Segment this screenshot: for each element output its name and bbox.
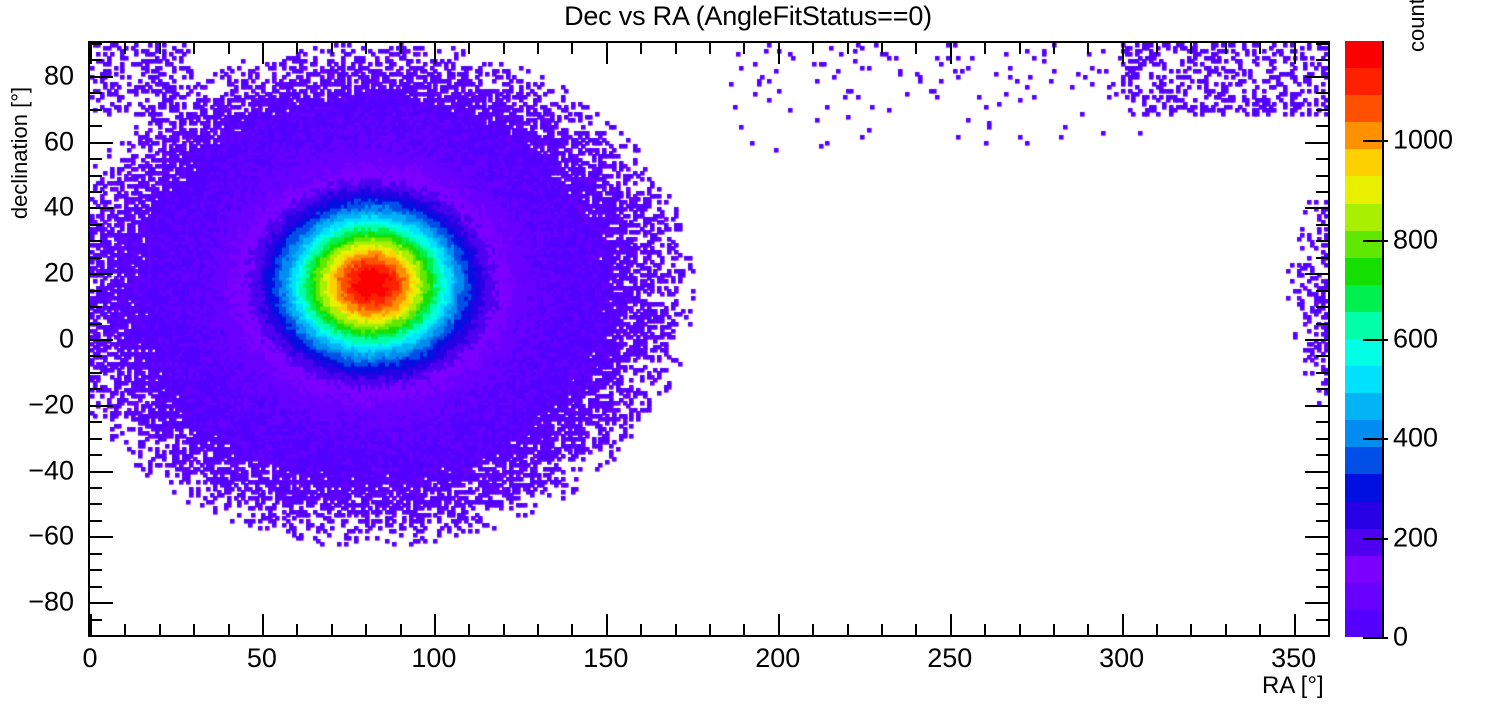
x-minor-tick [296,624,298,635]
y-minor-tick [90,553,102,555]
x-major-tick-top [90,43,92,64]
x-tick-label: 150 [583,643,628,674]
y-minor-tick [90,355,102,357]
y-tick-label: 0 [0,324,74,355]
x-minor-tick [365,624,367,635]
y-major-tick [90,207,113,209]
colorbar-band [1345,312,1382,339]
x-minor-tick [1225,624,1227,635]
x-minor-tick [503,624,505,635]
x-minor-tick-top [984,43,986,54]
x-major-tick [1122,614,1124,635]
x-major-tick-top [1122,43,1124,64]
y-minor-tick-right [1316,503,1328,505]
x-major-tick-top [778,43,780,64]
y-minor-tick-right [1316,175,1328,177]
y-minor-tick-right [1316,355,1328,357]
y-minor-tick-right [1316,191,1328,193]
colorbar-band [1345,610,1382,637]
x-minor-tick [193,624,195,635]
colorbar-tick [1363,339,1388,341]
x-minor-tick-top [400,43,402,54]
colorbar-band [1345,447,1382,474]
y-major-tick [90,405,113,407]
x-minor-tick-top [537,43,539,54]
y-minor-tick [90,421,102,423]
y-minor-tick-right [1316,388,1328,390]
y-minor-tick [90,240,102,242]
y-tick-label: −60 [0,521,74,552]
y-minor-tick [90,175,102,177]
x-minor-tick [1156,624,1158,635]
y-tick-label: −20 [0,389,74,420]
y-major-tick [90,76,113,78]
x-minor-tick-top [228,43,230,54]
x-major-tick [1294,614,1296,635]
colorbar-tick-label: 200 [1393,523,1438,554]
colorbar-tick-label: 800 [1393,225,1438,256]
colorbar-tick [1363,637,1388,639]
x-major-tick [90,614,92,635]
x-minor-tick [1087,624,1089,635]
colorbar-band [1345,366,1382,393]
x-minor-tick [228,624,230,635]
y-minor-tick-right [1316,125,1328,127]
x-major-tick [950,614,952,635]
x-minor-tick-top [1225,43,1227,54]
y-minor-tick [90,388,102,390]
x-tick-label: 100 [411,643,456,674]
colorbar-band [1345,204,1382,231]
x-minor-tick-top [124,43,126,54]
y-major-tick-right [1305,142,1328,144]
y-minor-tick [90,306,102,308]
x-minor-tick [812,624,814,635]
y-axis-title: declination [°] [7,43,33,263]
x-tick-label: 50 [247,643,277,674]
x-minor-tick [915,624,917,635]
x-minor-tick-top [743,43,745,54]
y-minor-tick [90,569,102,571]
y-minor-tick-right [1316,438,1328,440]
x-minor-tick-top [193,43,195,54]
y-minor-tick [90,454,102,456]
y-minor-tick [90,290,102,292]
y-major-tick-right [1305,602,1328,604]
x-minor-tick-top [709,43,711,54]
y-minor-tick [90,586,102,588]
x-minor-tick-top [571,43,573,54]
y-major-tick [90,339,113,341]
y-minor-tick [90,503,102,505]
colorbar-band [1345,474,1382,501]
page-title: Dec vs RA (AngleFitStatus==0) [0,1,1496,32]
x-minor-tick-top [1328,43,1330,54]
colorbar-band [1345,41,1382,68]
colorbar-band [1345,176,1382,203]
y-minor-tick [90,191,102,193]
colorbar-band [1345,420,1382,447]
x-minor-tick [537,624,539,635]
x-minor-tick [1259,624,1261,635]
y-minor-tick-right [1316,323,1328,325]
y-minor-tick-right [1316,586,1328,588]
root-canvas: Dec vs RA (AngleFitStatus==0) −80−60−40−… [0,0,1496,722]
x-major-tick-top [606,43,608,64]
x-minor-tick-top [159,43,161,54]
x-minor-tick [571,624,573,635]
x-minor-tick [675,624,677,635]
x-minor-tick-top [1087,43,1089,54]
colorbar-tick [1363,240,1388,242]
x-minor-tick-top [881,43,883,54]
y-major-tick [90,471,113,473]
y-minor-tick-right [1316,240,1328,242]
y-minor-tick-right [1316,306,1328,308]
x-minor-tick-top [1190,43,1192,54]
x-minor-tick-top [915,43,917,54]
y-major-tick-right [1305,76,1328,78]
x-minor-tick [1190,624,1192,635]
colorbar: 02004006008001000 [1345,41,1382,637]
y-minor-tick-right [1316,619,1328,621]
x-minor-tick [468,624,470,635]
y-minor-tick-right [1316,635,1328,637]
y-minor-tick [90,323,102,325]
x-minor-tick-top [1053,43,1055,54]
y-minor-tick [90,92,102,94]
y-tick-label: −40 [0,455,74,486]
x-tick-label: 350 [1271,643,1316,674]
colorbar-tick-label: 1000 [1393,125,1453,156]
x-minor-tick [159,624,161,635]
y-minor-tick [90,635,102,637]
colorbar-band [1345,95,1382,122]
colorbar-tick-label: 400 [1393,423,1438,454]
x-minor-tick [331,624,333,635]
colorbar-band [1345,149,1382,176]
x-minor-tick [709,624,711,635]
y-minor-tick [90,158,102,160]
y-minor-tick-right [1316,158,1328,160]
x-tick-label: 300 [1099,643,1144,674]
colorbar-tick [1363,140,1388,142]
colorbar-tick [1363,538,1388,540]
x-minor-tick-top [812,43,814,54]
y-minor-tick-right [1316,290,1328,292]
x-major-tick-top [1294,43,1296,64]
x-minor-tick-top [1259,43,1261,54]
x-minor-tick [743,624,745,635]
x-axis-title: RA [°] [1262,672,1324,700]
y-tick-label: −80 [0,587,74,618]
x-tick-label: 250 [927,643,972,674]
y-minor-tick-right [1316,109,1328,111]
colorbar-tick [1363,438,1388,440]
y-minor-tick-right [1316,553,1328,555]
x-minor-tick [400,624,402,635]
y-major-tick-right [1305,536,1328,538]
colorbar-tick-label: 600 [1393,324,1438,355]
colorbar-title: count [1404,0,1430,52]
x-minor-tick-top [1019,43,1021,54]
y-minor-tick-right [1316,454,1328,456]
x-minor-tick [1328,624,1330,635]
y-major-tick [90,142,113,144]
y-minor-tick [90,487,102,489]
colorbar-band [1345,258,1382,285]
x-minor-tick [984,624,986,635]
x-tick-label: 0 [82,643,97,674]
colorbar-band [1345,529,1382,556]
y-minor-tick [90,109,102,111]
x-minor-tick-top [1156,43,1158,54]
y-minor-tick-right [1316,224,1328,226]
y-minor-tick [90,125,102,127]
x-minor-tick-top [847,43,849,54]
y-minor-tick [90,438,102,440]
colorbar-band [1345,583,1382,610]
y-major-tick-right [1305,339,1328,341]
x-tick-label: 200 [755,643,800,674]
x-minor-tick-top [675,43,677,54]
y-minor-tick [90,520,102,522]
x-minor-tick [640,624,642,635]
x-major-tick-top [434,43,436,64]
x-minor-tick-top [365,43,367,54]
colorbar-band [1345,339,1382,366]
colorbar-band [1345,68,1382,95]
x-minor-tick [1019,624,1021,635]
x-major-tick [606,614,608,635]
x-major-tick [778,614,780,635]
y-minor-tick-right [1316,569,1328,571]
y-minor-tick-right [1316,487,1328,489]
colorbar-band [1345,393,1382,420]
x-major-tick [262,614,264,635]
y-major-tick-right [1305,273,1328,275]
y-major-tick-right [1305,471,1328,473]
x-minor-tick-top [468,43,470,54]
colorbar-band [1345,231,1382,258]
x-major-tick-top [262,43,264,64]
y-minor-tick-right [1316,43,1328,45]
x-major-tick [434,614,436,635]
x-minor-tick-top [331,43,333,54]
y-major-tick-right [1305,405,1328,407]
colorbar-band [1345,285,1382,312]
x-minor-tick [1053,624,1055,635]
y-major-tick-right [1305,207,1328,209]
y-minor-tick [90,224,102,226]
y-minor-tick [90,372,102,374]
y-minor-tick [90,257,102,259]
colorbar-band [1345,502,1382,529]
y-major-tick [90,273,113,275]
y-major-tick [90,602,113,604]
y-minor-tick-right [1316,372,1328,374]
histogram-2d-heatmap [90,43,1328,635]
y-minor-tick-right [1316,257,1328,259]
colorbar-band [1345,122,1382,149]
x-minor-tick [881,624,883,635]
y-minor-tick-right [1316,421,1328,423]
x-minor-tick [847,624,849,635]
y-minor-tick-right [1316,92,1328,94]
x-minor-tick-top [296,43,298,54]
y-minor-tick-right [1316,59,1328,61]
y-major-tick [90,536,113,538]
x-minor-tick [124,624,126,635]
colorbar-tick-label: 0 [1393,622,1408,653]
y-minor-tick-right [1316,520,1328,522]
x-minor-tick-top [503,43,505,54]
x-major-tick-top [950,43,952,64]
colorbar-band [1345,556,1382,583]
x-minor-tick-top [640,43,642,54]
plot-frame [88,41,1330,637]
